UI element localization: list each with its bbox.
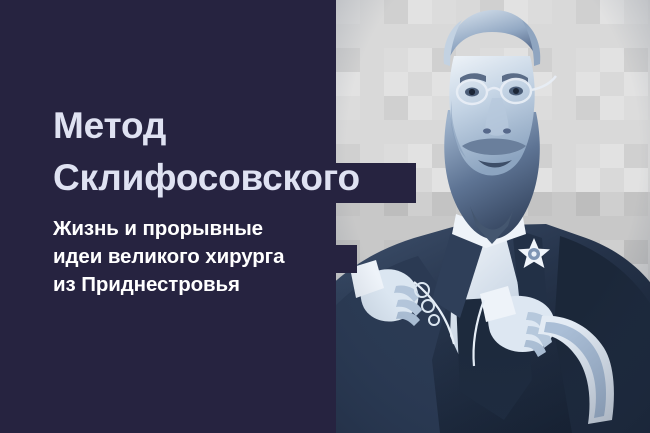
- article-cover-banner: Метод Склифосовского Жизнь и прорывные и…: [0, 0, 650, 433]
- page-title: Метод Склифосовского: [53, 100, 423, 204]
- text-layer: Метод Склифосовского Жизнь и прорывные и…: [0, 0, 650, 433]
- page-subtitle: Жизнь и прорывные идеи великого хирурга …: [53, 215, 363, 299]
